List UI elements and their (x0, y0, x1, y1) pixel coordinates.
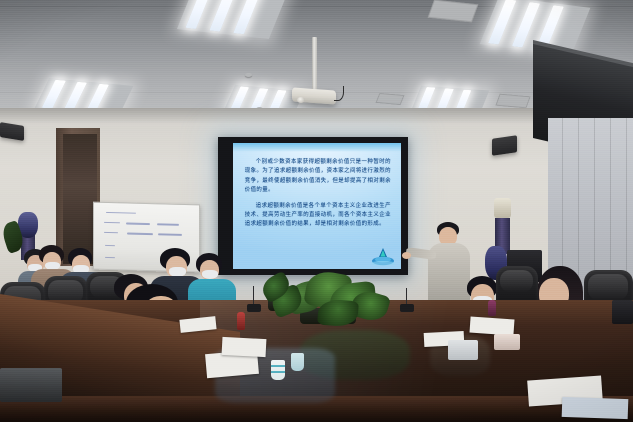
vase-top-right (494, 198, 511, 218)
slide-body-text: 个别或少数资本家获得超额剩余价值只是一种暂时的现象。为了追求超额剩余价值，资本家… (245, 158, 391, 236)
document-paper[interactable] (222, 337, 267, 357)
door-panel[interactable] (63, 134, 97, 264)
slide-corner-graphic (370, 246, 396, 266)
tissue-box[interactable] (494, 334, 520, 350)
projected-slide: 个别或少数资本家获得超额剩余价值只是一种暂时的现象。为了追求超额剩余价值，资本家… (233, 143, 401, 269)
water-bottle[interactable] (488, 300, 496, 316)
smoke-detector (245, 73, 252, 77)
tissue-box[interactable] (448, 340, 478, 360)
projector-lens (297, 97, 305, 103)
paper-cup[interactable] (271, 360, 285, 380)
table-equipment[interactable] (612, 300, 633, 324)
air-vent (375, 93, 404, 105)
conference-microphone[interactable] (400, 304, 414, 312)
foreground-box (0, 368, 62, 402)
document-paper[interactable] (562, 397, 629, 419)
document-paper[interactable] (469, 316, 514, 335)
slide-paragraph-2: 追求超额剩余价值是各个单个资本主义企业改进生产技术、提高劳动生产率的直接动机，而… (245, 202, 391, 230)
paper-cup[interactable] (291, 353, 304, 371)
wall-speaker-right (492, 135, 517, 156)
water-bottle[interactable] (237, 312, 245, 330)
projector-mount-pole (312, 37, 317, 92)
screenshot-root: 个别或少数资本家获得超额剩余价值只是一种暂时的现象。为了追求超额剩余价值，资本家… (0, 0, 633, 422)
conference-microphone[interactable] (247, 304, 261, 312)
slide-paragraph-1: 个别或少数资本家获得超额剩余价值只是一种暂时的现象。为了追求超额剩余价值，资本家… (245, 158, 391, 195)
